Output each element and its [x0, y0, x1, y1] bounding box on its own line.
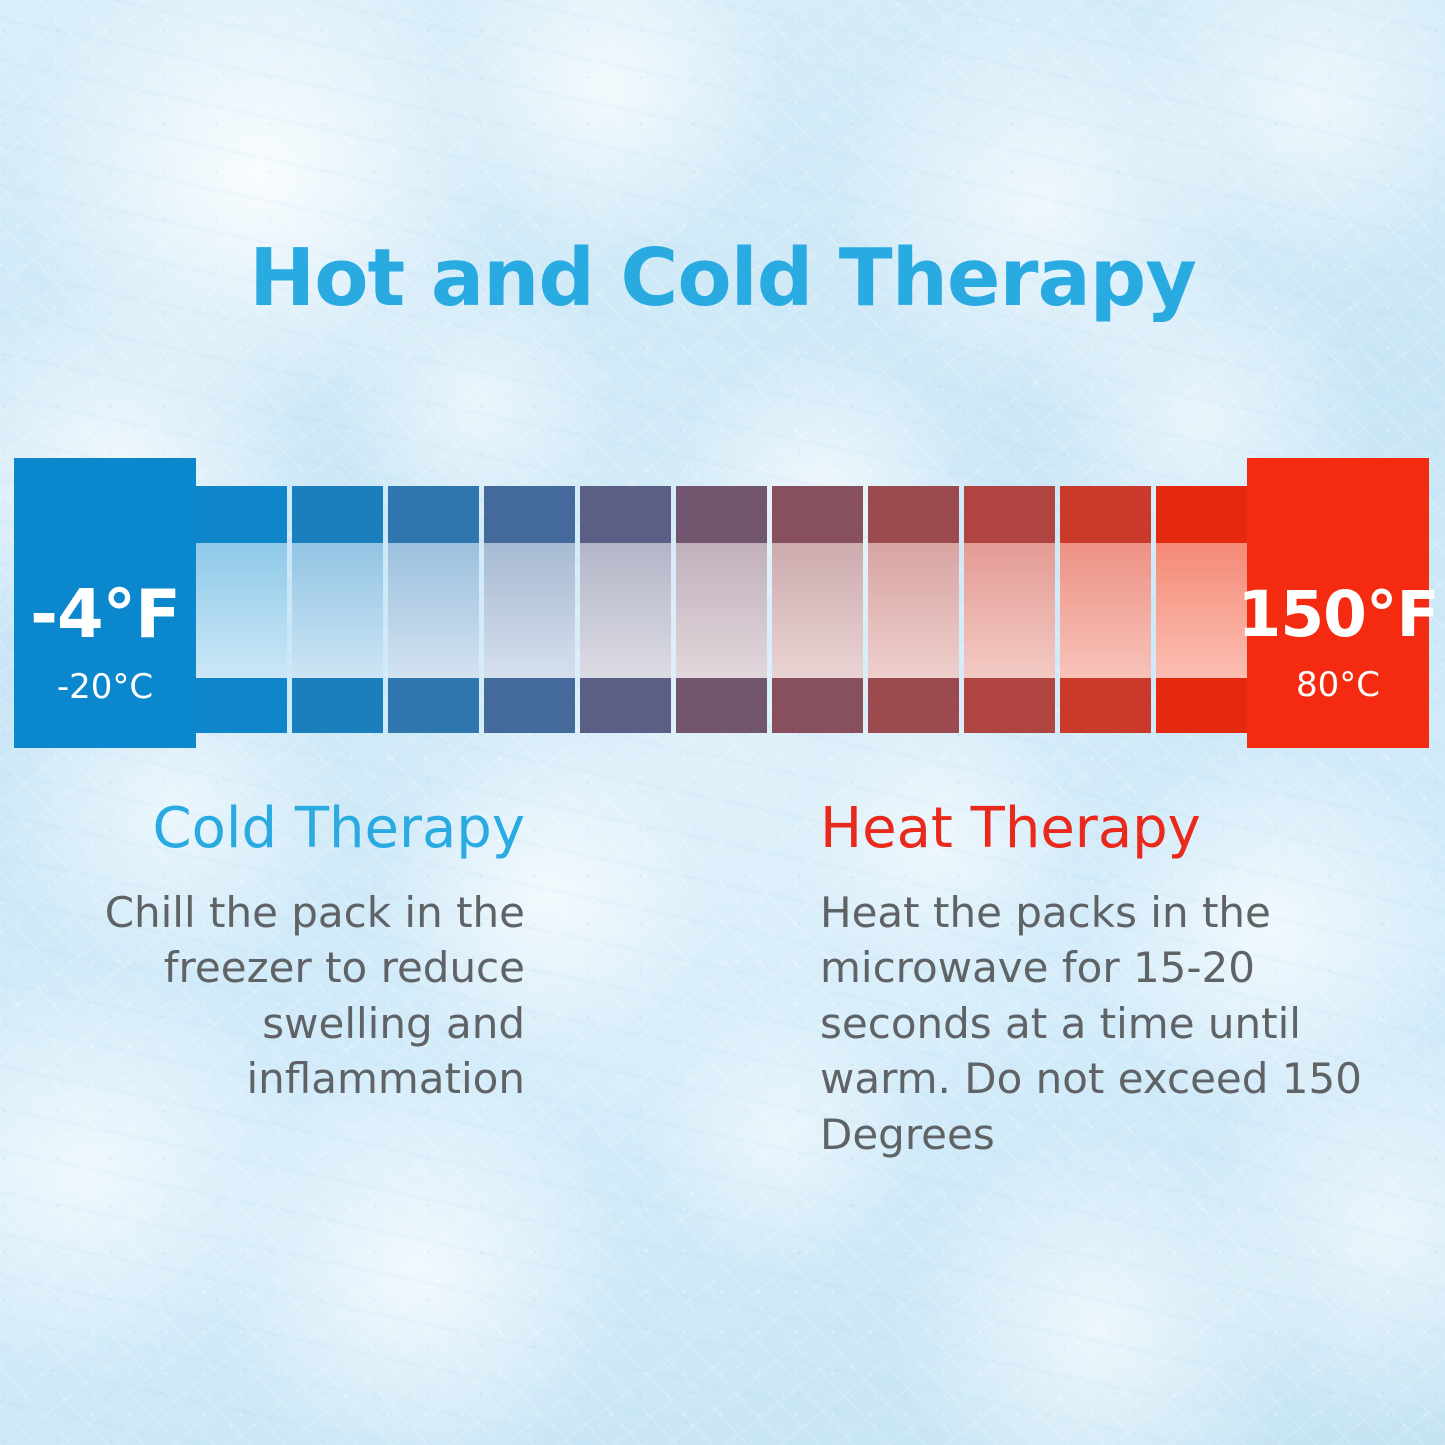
- scale-segment-top-band: [292, 486, 383, 543]
- scale-segment: [388, 486, 479, 733]
- hot-fahrenheit-label: 150°F: [1237, 583, 1438, 646]
- cold-therapy-heading: Cold Therapy: [45, 800, 525, 859]
- scale-segment-top-band: [580, 486, 671, 543]
- gradient-segments: [196, 486, 1247, 733]
- scale-segment-bottom-band: [676, 678, 767, 733]
- scale-segment-gradient-band: [676, 543, 767, 678]
- temperature-scale: -4°F -20°C 150°F 80°C: [14, 458, 1429, 748]
- scale-segment: [292, 486, 383, 733]
- cold-fahrenheit-label: -4°F: [30, 581, 180, 648]
- cold-therapy-column: Cold Therapy Chill the pack in the freez…: [0, 800, 620, 1162]
- scale-segment-bottom-band: [772, 678, 863, 733]
- scale-segment: [1060, 486, 1151, 733]
- cold-celsius-label: -20°C: [57, 670, 153, 704]
- scale-segment-bottom-band: [292, 678, 383, 733]
- scale-segment-bottom-band: [580, 678, 671, 733]
- scale-segment-bottom-band: [484, 678, 575, 733]
- cold-endcap: -4°F -20°C: [14, 458, 196, 748]
- scale-segment-top-band: [868, 486, 959, 543]
- heat-therapy-heading: Heat Therapy: [820, 800, 1395, 859]
- page-title: Hot and Cold Therapy: [0, 232, 1445, 324]
- scale-segment: [484, 486, 575, 733]
- scale-segment-gradient-band: [388, 543, 479, 678]
- scale-segment-gradient-band: [580, 543, 671, 678]
- scale-segment: [964, 486, 1055, 733]
- scale-segment-top-band: [484, 486, 575, 543]
- scale-segment: [1156, 486, 1247, 733]
- scale-segment-top-band: [1156, 486, 1247, 543]
- scale-segment-bottom-band: [964, 678, 1055, 733]
- scale-segment-bottom-band: [868, 678, 959, 733]
- scale-segment: [868, 486, 959, 733]
- scale-segment: [580, 486, 671, 733]
- scale-segment-gradient-band: [292, 543, 383, 678]
- scale-segment: [772, 486, 863, 733]
- scale-segment-gradient-band: [484, 543, 575, 678]
- therapy-columns: Cold Therapy Chill the pack in the freez…: [0, 800, 1445, 1162]
- scale-segment-gradient-band: [1060, 543, 1151, 678]
- scale-segment-top-band: [388, 486, 479, 543]
- hot-celsius-label: 80°C: [1296, 668, 1380, 702]
- scale-segment-top-band: [964, 486, 1055, 543]
- scale-segment-top-band: [676, 486, 767, 543]
- scale-segment-bottom-band: [1060, 678, 1151, 733]
- scale-segment-gradient-band: [196, 543, 287, 678]
- scale-segment: [196, 486, 287, 733]
- scale-segment-top-band: [772, 486, 863, 543]
- cold-therapy-body: Chill the pack in the freezer to reduce …: [45, 885, 525, 1107]
- heat-therapy-column: Heat Therapy Heat the packs in the micro…: [820, 800, 1440, 1162]
- scale-segment-gradient-band: [1156, 543, 1247, 678]
- scale-segment-bottom-band: [196, 678, 287, 733]
- scale-segment: [676, 486, 767, 733]
- heat-therapy-body: Heat the packs in the microwave for 15-2…: [820, 885, 1395, 1162]
- scale-segment-gradient-band: [964, 543, 1055, 678]
- scale-segment-top-band: [196, 486, 287, 543]
- scale-segment-gradient-band: [868, 543, 959, 678]
- scale-segment-bottom-band: [388, 678, 479, 733]
- scale-segment-top-band: [1060, 486, 1151, 543]
- scale-segment-gradient-band: [772, 543, 863, 678]
- infographic-canvas: Hot and Cold Therapy -4°F -20°C 150°F 80…: [0, 0, 1445, 1445]
- scale-segment-bottom-band: [1156, 678, 1247, 733]
- hot-endcap: 150°F 80°C: [1247, 458, 1429, 748]
